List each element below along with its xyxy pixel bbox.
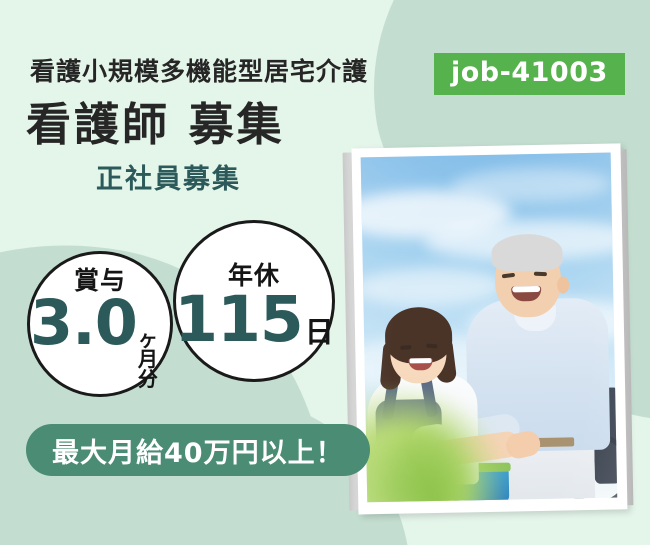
highlight-circle-annual-holidays: 年休 115 日 bbox=[173, 220, 335, 382]
employment-type-label: 正社員募集 bbox=[96, 157, 241, 196]
highlight-circle-bonus: 賞与 3.0 ヶ月分 bbox=[27, 251, 173, 397]
highlight-circle-annual-holidays-content: 年休 115 日 bbox=[176, 223, 332, 379]
job-recruitment-banner: 看護小規模多機能型居宅介護 看護師 募集 正社員募集 job-41003 賞与 … bbox=[0, 0, 650, 545]
caregiver-photo bbox=[361, 153, 618, 503]
annual-holidays-value: 115 bbox=[174, 292, 303, 349]
photo-vignette bbox=[361, 153, 618, 503]
page-title: 看護師 募集 bbox=[26, 88, 285, 153]
bonus-value-row: 3.0 ヶ月分 bbox=[30, 295, 170, 387]
annual-holidays-value-row: 115 日 bbox=[174, 292, 334, 349]
bonus-unit: ヶ月分 bbox=[138, 329, 170, 389]
bonus-value: 3.0 bbox=[30, 295, 137, 351]
photo-frame bbox=[342, 143, 627, 518]
service-type-label: 看護小規模多機能型居宅介護 bbox=[30, 52, 368, 88]
highlight-circle-bonus-content: 賞与 3.0 ヶ月分 bbox=[30, 254, 170, 394]
photo-frame-body bbox=[351, 143, 627, 514]
salary-highlight-banner: 最大月給40万円以上！ bbox=[26, 424, 370, 476]
annual-holidays-unit: 日 bbox=[305, 318, 334, 347]
job-id-badge: job-41003 bbox=[434, 53, 625, 95]
